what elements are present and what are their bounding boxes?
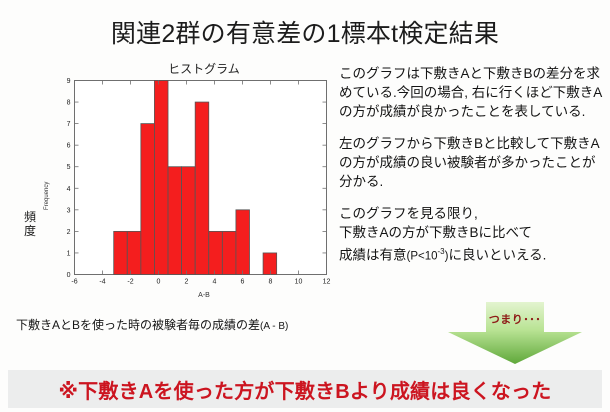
y-axis-label-jp: 頻度 [22,210,38,238]
y-tick-label: 0 [67,272,71,279]
x-tick-label: 12 [323,279,331,286]
histogram-bar [114,231,128,274]
histogram-bar [127,231,141,274]
x-tick-label: 6 [241,279,245,286]
y-tick-label: 2 [67,229,71,236]
arrow-label: つまり･･･ [430,311,600,327]
y-tick-label: 1 [67,250,71,257]
y-tick-label: 9 [67,78,71,85]
x-tick-label: -6 [71,279,77,286]
y-tick-label: 5 [67,164,71,171]
y-tick-label: 7 [67,121,71,128]
slide-root: 関連2群の有意差の1標本t検定結果 ヒストグラム 頻度 Frequency -6… [0,0,610,412]
conclusion-line-3a: 成績は有意 [339,248,407,263]
conclusion-line-1: このグラフを見る限り, [339,206,478,221]
explanation-paragraph-2: 左のグラフから下敷きBと比較して下敷きAの方が成績の良い被験者が多かったことが分… [339,134,607,191]
conclusion-banner-text: ※下敷きAを使った方が下敷きBより成績は良くなった [59,375,552,404]
conclusion-line-2: 下敷きAの方が下敷きBに比べて [339,225,532,240]
x-tick-label: 2 [185,279,189,286]
x-tick-label: 8 [269,279,273,286]
histogram-bar [195,102,209,274]
chart-caption: 下敷きAとBを使った時の被験者毎の成績の差(A - B) [16,316,346,333]
x-tick-label: 10 [295,279,303,286]
x-tick-label: 4 [213,279,217,286]
histogram-bar [168,167,182,275]
histogram-bar [154,81,168,275]
y-tick-label: 8 [67,100,71,107]
explanation-paragraph-3: このグラフを見る限り, 下敷きAの方が下敷きBに比べて 成績は有意(P<10-3… [339,204,607,267]
p-value-open: (P<10 [407,251,438,263]
y-tick-label: 6 [67,143,71,150]
x-tick-label: -2 [127,279,133,286]
chart-caption-main: 下敷きAとBを使った時の被験者毎の成績の差 [16,318,260,332]
histogram-bar [209,231,223,274]
page-title: 関連2群の有意差の1標本t検定結果 [0,14,610,50]
conclusion-arrow: つまり･･･ [430,302,600,364]
chart-caption-sub: (A - B) [260,321,288,332]
histogram-chart: ヒストグラム 頻度 Frequency -6-4-2024681012 0123… [14,60,340,310]
p-value-exponent: -3 [438,247,445,256]
histogram-bar [263,253,277,275]
histogram-bar [222,231,236,274]
histogram-bar [182,167,196,275]
histogram-bar [236,210,250,275]
y-tick-label: 3 [67,207,71,214]
chart-title: ヒストグラム [74,60,334,77]
explanation-paragraph-1: このグラフは下敷きAと下敷きBの差分を求めている.今回の場合, 右に行くほど下敷… [339,64,607,121]
x-tick-label: -4 [99,279,105,286]
y-tick-label: 4 [67,186,71,193]
conclusion-banner: ※下敷きAを使った方が下敷きBより成績は良くなった [8,370,602,408]
histogram-plot: -6-4-2024681012 0123456789 [44,76,334,291]
x-tick-label: 0 [157,279,161,286]
explanation-column: このグラフは下敷きAと下敷きBの差分を求めている.今回の場合, 右に行くほど下敷… [339,64,607,280]
histogram-bar [141,124,155,275]
conclusion-line-3b: に良いといえる. [448,248,546,263]
x-axis-label: A-B [74,292,334,299]
